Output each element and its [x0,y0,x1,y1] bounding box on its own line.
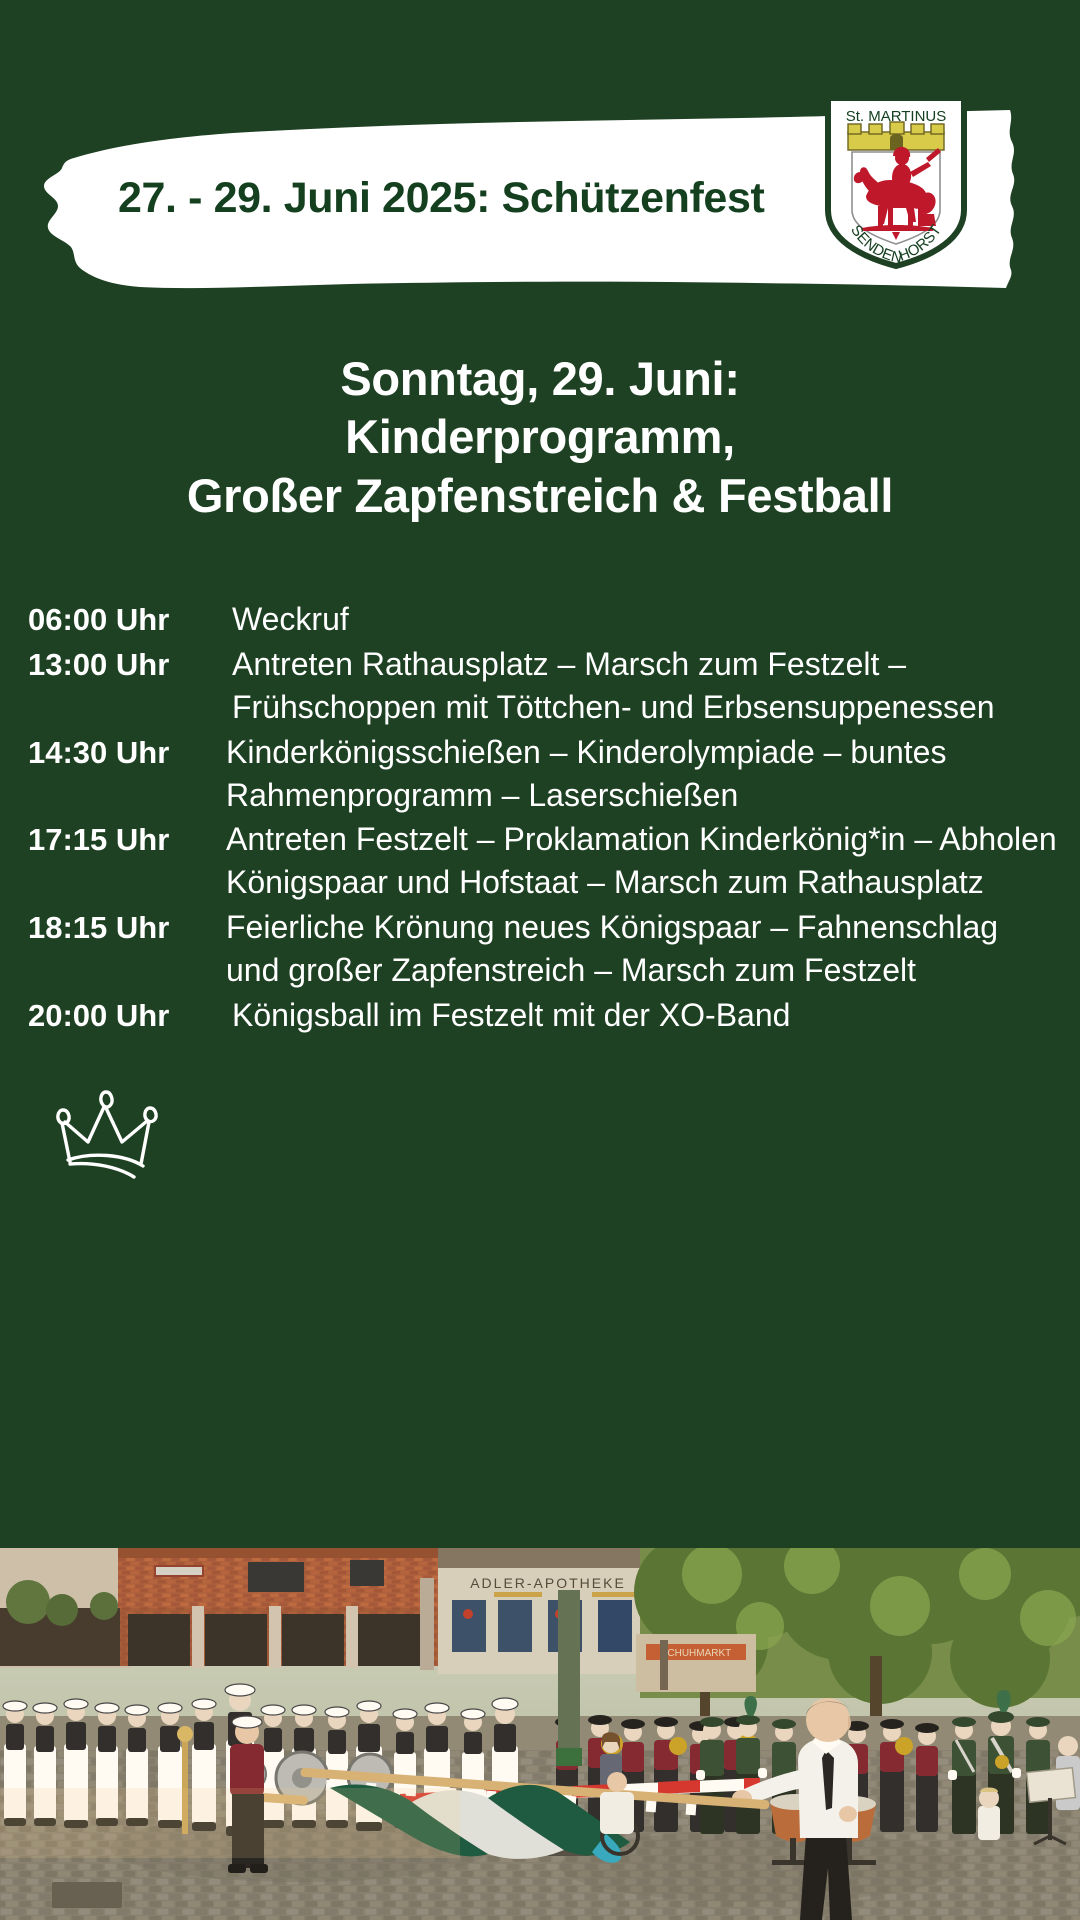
page-title: Sonntag, 29. Juni: Kinderprogramm, Große… [0,350,1080,525]
headline-line-1: Sonntag, 29. Juni: [0,350,1080,408]
schedule-time: 13:00 Uhr [28,643,226,686]
coat-of-arms-crest: St. MARTINUS [822,92,970,270]
crown-icon [46,1082,166,1186]
schedule-list: 06:00 Uhr Weckruf 13:00 Uhr Antreten Rat… [28,598,1060,1039]
schedule-description: Antreten Festzelt – Proklamation Kinderk… [226,818,1060,904]
banner-title: 27. - 29. Juni 2025: Schützenfest [118,174,818,223]
banner: 27. - 29. Juni 2025: Schützenfest St. MA… [0,100,1080,290]
schedule-description: Antreten Rathausplatz – Marsch zum Festz… [226,643,1060,729]
schedule-description: Königsball im Festzelt mit der XO-Band [226,994,1060,1037]
schedule-row: 06:00 Uhr Weckruf [28,598,1060,641]
schedule-time: 17:15 Uhr [28,818,226,861]
schedule-row: 17:15 Uhr Antreten Festzelt – Proklamati… [28,818,1060,904]
event-photo-illustration: ADLER-APOTHEKE [0,1548,1080,1920]
schedule-description: Weckruf [226,598,1060,641]
headline-line-2: Kinderprogramm, [0,408,1080,466]
schedule-row: 20:00 Uhr Königsball im Festzelt mit der… [28,994,1060,1037]
schedule-row: 18:15 Uhr Feierliche Krönung neues König… [28,906,1060,992]
schedule-row: 13:00 Uhr Antreten Rathausplatz – Marsch… [28,643,1060,729]
schedule-time: 14:30 Uhr [28,731,226,774]
schedule-description: Kinderkönigsschießen – Kinderolympiade –… [226,731,1060,817]
event-photo: ADLER-APOTHEKE [0,1548,1080,1920]
poster-root: 27. - 29. Juni 2025: Schützenfest St. MA… [0,0,1080,1920]
schedule-description: Feierliche Krönung neues Königspaar – Fa… [226,906,1060,992]
schedule-time: 20:00 Uhr [28,994,226,1037]
headline-line-3: Großer Zapfenstreich & Festball [0,467,1080,525]
schedule-time: 06:00 Uhr [28,598,226,641]
schedule-row: 14:30 Uhr Kinderkönigsschießen – Kindero… [28,731,1060,817]
schedule-time: 18:15 Uhr [28,906,226,949]
